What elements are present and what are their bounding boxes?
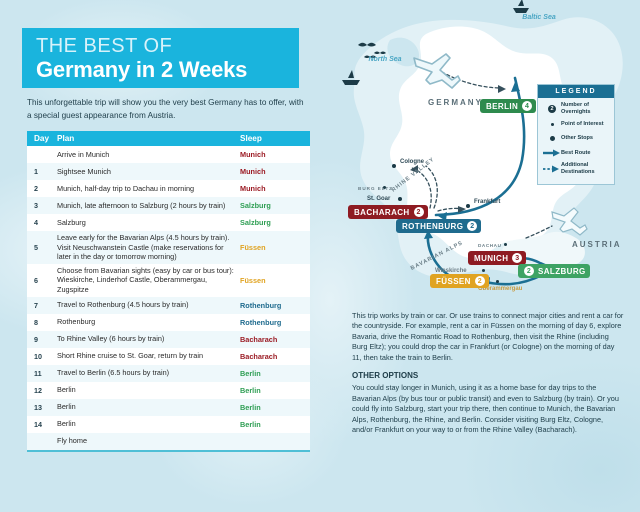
poi-dot-wieskirche: [482, 269, 485, 272]
table-row: 10Short Rhine cruise to St. Goar, return…: [27, 348, 310, 365]
table-row: 11Travel to Berlin (6.5 hours by train)B…: [27, 365, 310, 382]
poi-label-frankfurt: Frankfurt: [474, 199, 500, 205]
cell-day: 4: [27, 218, 57, 227]
itinerary-table: Day Plan Sleep Arrive in MunichMunich1Si…: [27, 131, 310, 452]
legend-label-poi: Point of Interest: [561, 121, 604, 128]
dashed-arrow-icon: [543, 165, 561, 173]
city-badge-salzburg[interactable]: 2 SALZBURG: [518, 264, 590, 278]
cell-sleep: Füssen: [240, 243, 310, 252]
cell-sleep: Berlin: [240, 369, 310, 378]
itinerary-panel: THE BEST OF Germany in 2 Weeks This unfo…: [0, 0, 330, 512]
legend-item-poi: Point of Interest: [543, 119, 610, 130]
poi-dot-st-goar: [398, 197, 402, 201]
cell-sleep: Munich: [240, 150, 310, 159]
cell-day: 6: [27, 276, 57, 285]
cell-plan: Munich, late afternoon to Salzburg (2 ho…: [57, 201, 240, 211]
cell-plan: To Rhine Valley (6 hours by train): [57, 334, 240, 344]
table-row: 12BerlinBerlin: [27, 382, 310, 399]
cell-sleep: Berlin: [240, 386, 310, 395]
city-name-bacharach: BACHARACH: [354, 208, 410, 217]
cell-day: 8: [27, 318, 57, 327]
cell-plan: Travel to Rothenburg (4.5 hours by train…: [57, 300, 240, 310]
other-options-paragraph: You could stay longer in Munich, using i…: [352, 383, 624, 435]
poi-label-burg-eltz: BURG ELTZ: [358, 186, 393, 191]
notes-section: This trip works by train or car. Or use …: [352, 311, 624, 435]
cell-sleep: Salzburg: [240, 218, 310, 227]
cell-day: 13: [27, 403, 57, 412]
page-title: Germany in 2 Weeks: [36, 57, 299, 83]
cell-day: 2: [27, 184, 57, 193]
city-badge-munich[interactable]: MUNICH 3: [468, 251, 526, 265]
city-badge-rothenburg[interactable]: ROTHENBURG 2: [396, 219, 481, 233]
cell-sleep: Munich: [240, 184, 310, 193]
overnights-salzburg: 2: [524, 266, 534, 276]
cell-sleep: Bacharach: [240, 335, 310, 344]
title-kicker: THE BEST OF: [36, 35, 299, 57]
city-name-rothenburg: ROTHENBURG: [402, 222, 463, 231]
overnights-bacharach: 2: [414, 207, 424, 217]
table-row: 13BerlinBerlin: [27, 399, 310, 416]
cell-plan: Travel to Berlin (6.5 hours by train): [57, 368, 240, 378]
legend-label-best-route: Best Route: [561, 150, 591, 157]
table-row: 5Leave early for the Bavarian Alps (4.5 …: [27, 231, 310, 264]
cell-plan: Berlin: [57, 385, 240, 395]
legend-item-other-stops: Other Stops: [543, 133, 610, 144]
cell-day: 11: [27, 369, 57, 378]
legend-item-overnights: 2 Number of Overnights: [543, 102, 610, 115]
country-label-austria: AUSTRIA: [572, 240, 622, 249]
overnights-fussen: 2: [475, 276, 485, 286]
table-row: Fly home: [27, 433, 310, 450]
table-body: Arrive in MunichMunich1Sightsee MunichMu…: [27, 146, 310, 450]
table-bottom-rule: [27, 450, 310, 452]
legend-item-best-route: Best Route: [543, 148, 610, 159]
country-label-germany: GERMANY: [428, 98, 483, 107]
city-name-munich: MUNICH: [474, 254, 508, 263]
table-row: 8RothenburgRothenburg: [27, 314, 310, 331]
poi-label-dachau: DACHAU: [478, 243, 502, 248]
cell-sleep: Berlin: [240, 403, 310, 412]
cell-plan: Berlin: [57, 419, 240, 429]
table-header-row: Day Plan Sleep: [27, 131, 310, 146]
city-name-fussen: FÜSSEN: [436, 277, 471, 286]
table-row: 14BerlinBerlin: [27, 416, 310, 433]
notes-paragraph: This trip works by train or car. Or use …: [352, 311, 624, 363]
cell-sleep: Füssen: [240, 276, 310, 285]
column-header-plan: Plan: [57, 134, 240, 143]
cell-plan: Choose from Bavarian sights (easy by car…: [57, 266, 240, 295]
cell-plan: Leave early for the Bavarian Alps (4.5 h…: [57, 233, 240, 262]
cell-plan: Arrive in Munich: [57, 150, 240, 160]
cell-plan: Sightsee Munich: [57, 167, 240, 177]
overnights-munich: 3: [512, 253, 522, 263]
legend-label-additional: Additional Destinations: [561, 162, 610, 175]
poi-dot-cologne: [392, 164, 396, 168]
sea-label-north: North Sea: [368, 56, 402, 65]
column-header-sleep: Sleep: [240, 134, 310, 143]
title-block: THE BEST OF Germany in 2 Weeks: [22, 28, 299, 88]
legend-label-other-stops: Other Stops: [561, 135, 593, 142]
cell-plan: Munich, half-day trip to Dachau in morni…: [57, 184, 240, 194]
solid-arrow-icon: [543, 149, 561, 157]
table-row: 3Munich, late afternoon to Salzburg (2 h…: [27, 197, 310, 214]
city-name-berlin: BERLIN: [486, 102, 518, 111]
cell-day: 10: [27, 352, 57, 361]
city-badge-bacharach[interactable]: BACHARACH 2: [348, 205, 428, 219]
legend-label-overnights: Number of Overnights: [561, 102, 610, 115]
city-badge-fussen[interactable]: FÜSSEN 2: [430, 274, 489, 288]
poi-label-st-goar: St. Goar: [367, 196, 390, 202]
cell-day: 5: [27, 243, 57, 252]
table-row: 1Sightsee MunichMunich: [27, 163, 310, 180]
small-dot-icon: [543, 123, 561, 126]
cell-day: 12: [27, 386, 57, 395]
other-options-heading: OTHER OPTIONS: [352, 371, 624, 381]
poi-dot-oberammergau: [496, 280, 499, 283]
poi-dot-frankfurt: [466, 204, 470, 208]
cell-sleep: Berlin: [240, 420, 310, 429]
overnights-berlin: 4: [522, 101, 532, 111]
poi-label-cologne: Cologne: [400, 159, 424, 165]
cell-plan: Rothenburg: [57, 317, 240, 327]
column-header-day: Day: [27, 134, 57, 143]
legend-body: 2 Number of Overnights Point of Interest…: [538, 98, 614, 184]
table-row: 6Choose from Bavarian sights (easy by ca…: [27, 264, 310, 297]
cell-day: 1: [27, 167, 57, 176]
sea-label-baltic: Baltic Sea: [522, 14, 556, 23]
cell-plan: Fly home: [57, 436, 240, 446]
city-name-salzburg: SALZBURG: [538, 267, 586, 276]
overnights-rothenburg: 2: [467, 221, 477, 231]
cell-sleep: Rothenburg: [240, 318, 310, 327]
table-row: 4SalzburgSalzburg: [27, 214, 310, 231]
cell-plan: Berlin: [57, 402, 240, 412]
legend-item-additional: Additional Destinations: [543, 162, 610, 175]
cell-sleep: Rothenburg: [240, 301, 310, 310]
cell-day: 3: [27, 201, 57, 210]
city-badge-berlin[interactable]: BERLIN 4: [480, 99, 536, 113]
cell-day: 9: [27, 335, 57, 344]
table-row: 9To Rhine Valley (6 hours by train)Bacha…: [27, 331, 310, 348]
cell-sleep: Bacharach: [240, 352, 310, 361]
table-row: 7Travel to Rothenburg (4.5 hours by trai…: [27, 297, 310, 314]
cell-day: 14: [27, 420, 57, 429]
table-row: Arrive in MunichMunich: [27, 146, 310, 163]
cell-plan: Short Rhine cruise to St. Goar, return b…: [57, 351, 240, 361]
cell-plan: Salzburg: [57, 218, 240, 228]
cell-sleep: Salzburg: [240, 201, 310, 210]
cell-sleep: Munich: [240, 167, 310, 176]
numbered-circle-icon: 2: [543, 105, 561, 113]
map-legend: LEGEND 2 Number of Overnights Point of I…: [537, 84, 615, 185]
table-row: 2Munich, half-day trip to Dachau in morn…: [27, 180, 310, 197]
poi-dot-dachau: [504, 243, 507, 246]
cell-day: 7: [27, 301, 57, 310]
poi-dot-burg-eltz: [383, 186, 386, 189]
large-dot-icon: [543, 136, 561, 141]
legend-title: LEGEND: [538, 85, 614, 98]
intro-text: This unforgettable trip will show you th…: [27, 97, 309, 122]
